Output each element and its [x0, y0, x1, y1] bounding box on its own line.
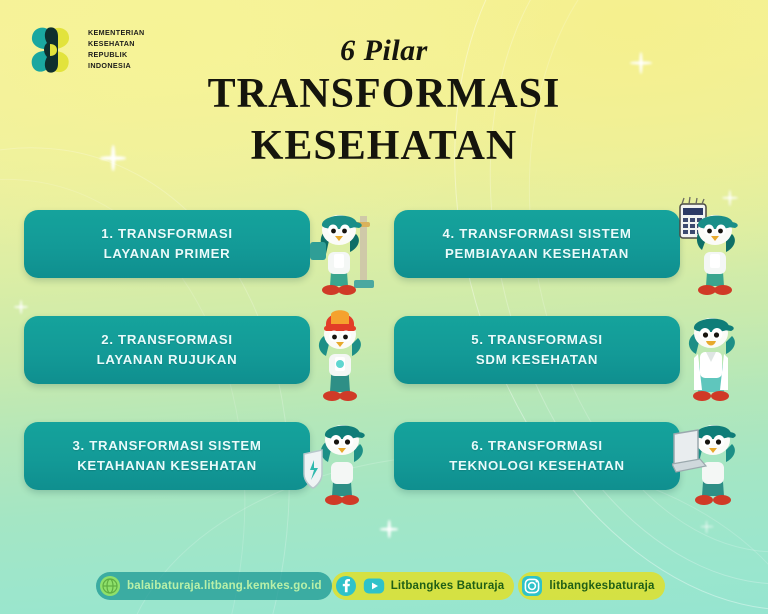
- pillar-pill-2[interactable]: 2. TRANSFORMASI LAYANAN RUJUKAN: [24, 316, 310, 384]
- pillar-row-1: 1. TRANSFORMASI LAYANAN PRIMER: [0, 196, 768, 302]
- instagram-group[interactable]: litbangkesbaturaja: [518, 572, 664, 600]
- pillar-label-6: 6. TRANSFORMASI TEKNOLOGI KESEHATAN: [449, 436, 624, 477]
- pillar-pill-6[interactable]: 6. TRANSFORMASI TEKNOLOGI KESEHATAN: [394, 422, 680, 490]
- social-label: Litbangkes Baturaja: [391, 580, 505, 592]
- title-line-1: TRANSFORMASI: [0, 70, 768, 120]
- sparkle-icon-6: [700, 520, 713, 533]
- pillar-pill-1[interactable]: 1. TRANSFORMASI LAYANAN PRIMER: [24, 210, 310, 278]
- instagram-label: litbangkesbaturaja: [549, 580, 654, 592]
- pillar-row-3: 3. TRANSFORMASI SISTEM KETAHANAN KESEHAT…: [0, 408, 768, 514]
- globe-icon: [99, 575, 121, 597]
- pillar-row-2: 2. TRANSFORMASI LAYANAN RUJUKAN: [0, 302, 768, 408]
- page-title: 6 Pilar TRANSFORMASI KESEHATAN: [0, 34, 768, 171]
- social-group[interactable]: Litbangkes Baturaja: [332, 572, 515, 600]
- mascot-lab-coat-icon: [672, 302, 750, 406]
- pillar-pill-5[interactable]: 5. TRANSFORMASI SDM KESEHATAN: [394, 316, 680, 384]
- website-label: balaibaturaja.litbang.kemkes.go.id: [127, 580, 322, 592]
- mascot-calculator-icon: [672, 196, 750, 300]
- mascot-height-measure-icon: [302, 196, 380, 300]
- pillar-label-2: 2. TRANSFORMASI LAYANAN RUJUKAN: [97, 330, 238, 371]
- website-group[interactable]: balaibaturaja.litbang.kemkes.go.id: [96, 572, 332, 600]
- facebook-icon[interactable]: [335, 575, 357, 597]
- title-line-2: KESEHATAN: [0, 122, 768, 172]
- instagram-icon[interactable]: [521, 575, 543, 597]
- pillar-pill-4[interactable]: 4. TRANSFORMASI SISTEM PEMBIAYAAN KESEHA…: [394, 210, 680, 278]
- footer-bar: balaibaturaja.litbang.kemkes.go.id Litba…: [96, 572, 665, 600]
- pillar-label-3: 3. TRANSFORMASI SISTEM KETAHANAN KESEHAT…: [72, 436, 261, 477]
- sparkle-icon-5: [380, 520, 398, 538]
- title-eyebrow: 6 Pilar: [0, 34, 768, 68]
- pillars-grid: 1. TRANSFORMASI LAYANAN PRIMER: [0, 196, 768, 514]
- pillar-card-4[interactable]: 4. TRANSFORMASI SISTEM PEMBIAYAAN KESEHA…: [394, 196, 752, 302]
- pillar-label-5: 5. TRANSFORMASI SDM KESEHATAN: [471, 330, 602, 371]
- pillar-label-1: 1. TRANSFORMASI LAYANAN PRIMER: [101, 224, 232, 265]
- pillar-pill-3[interactable]: 3. TRANSFORMASI SISTEM KETAHANAN KESEHAT…: [24, 422, 310, 490]
- pillar-card-2[interactable]: 2. TRANSFORMASI LAYANAN RUJUKAN: [24, 302, 382, 408]
- pillar-label-4: 4. TRANSFORMASI SISTEM PEMBIAYAAN KESEHA…: [442, 224, 631, 265]
- mascot-red-helmet-icon: [302, 302, 380, 406]
- pillar-card-6[interactable]: 6. TRANSFORMASI TEKNOLOGI KESEHATAN: [394, 408, 752, 514]
- pillar-card-3[interactable]: 3. TRANSFORMASI SISTEM KETAHANAN KESEHAT…: [24, 408, 382, 514]
- pillar-card-5[interactable]: 5. TRANSFORMASI SDM KESEHATAN: [394, 302, 752, 408]
- mascot-laptop-icon: [672, 408, 750, 512]
- mascot-shield-icon: [302, 408, 380, 512]
- youtube-icon[interactable]: [363, 575, 385, 597]
- pillar-card-1[interactable]: 1. TRANSFORMASI LAYANAN PRIMER: [24, 196, 382, 302]
